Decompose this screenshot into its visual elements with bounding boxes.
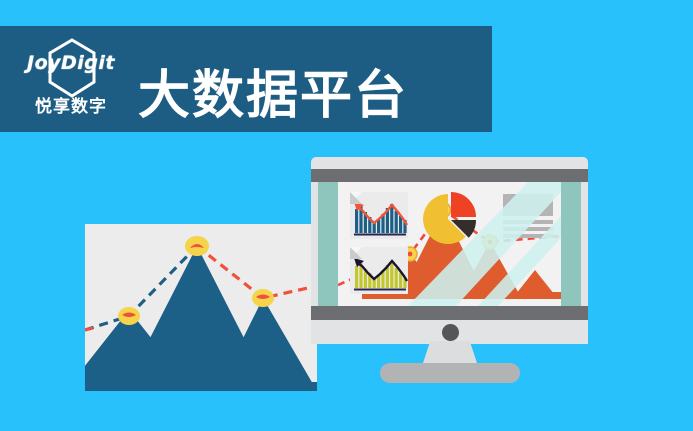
monitor-top-bar [311, 169, 588, 182]
data-node [185, 236, 209, 256]
poster-canvas: JoyDigit 悦享数字 大数据平台 [0, 0, 693, 431]
monitor-screen[interactable] [318, 182, 581, 306]
blue-bar-chart [350, 192, 408, 239]
text-block-line [503, 227, 553, 231]
data-node [252, 289, 274, 307]
brand-logo[interactable]: JoyDigit 悦享数字 [16, 36, 126, 124]
monitor-body [311, 157, 588, 344]
desktop-monitor [311, 157, 588, 387]
trend-line-red-tip [85, 328, 93, 330]
monitor-stand-base [380, 363, 520, 383]
header-banner: JoyDigit 悦享数字 大数据平台 [0, 26, 492, 132]
blue-mountain-chart [85, 224, 317, 391]
data-node [118, 307, 140, 325]
text-placeholder-block [503, 194, 553, 236]
data-node [483, 235, 497, 249]
logo-subtitle: 悦享数字 [16, 98, 126, 115]
mountain-ground [85, 382, 317, 391]
screen-stripe-left [318, 182, 338, 306]
logo-wordmark: JoyDigit [16, 54, 126, 73]
baseline [354, 234, 406, 236]
pie-chart[interactable] [421, 190, 479, 248]
baseline [354, 289, 406, 291]
monitor-power-indicator[interactable] [442, 324, 459, 341]
text-block-image [503, 194, 553, 216]
olive-bar-card[interactable] [350, 247, 408, 294]
page-title: 大数据平台 [138, 70, 408, 122]
pie-slice-b [451, 192, 476, 217]
dashboard-content [338, 182, 561, 306]
text-block-line [503, 234, 553, 238]
olive-bar-chart [350, 247, 408, 294]
monitor-bottom-bar [311, 306, 588, 320]
blue-bar-card[interactable] [350, 192, 408, 239]
text-block-line [503, 220, 553, 224]
screen-stripe-right [561, 182, 581, 306]
blue-mountain-panel [85, 224, 317, 391]
